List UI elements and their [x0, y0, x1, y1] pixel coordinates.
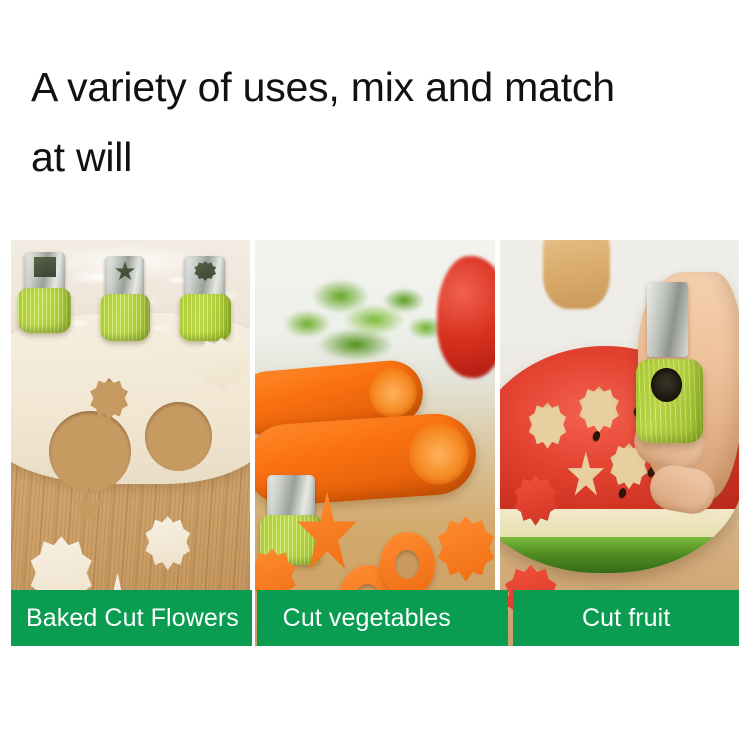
cutter-green-cap: [18, 288, 71, 333]
cutter-blade: [647, 282, 689, 357]
vegetable-cutter: [260, 475, 322, 564]
caption-bars: Baked Cut Flowers Cut vegetables Cut fru…: [11, 590, 739, 646]
wooden-jar: [543, 240, 610, 309]
cookie-cutter-star: [100, 256, 150, 341]
photo-cut-fruit: [500, 240, 739, 646]
caption-baked-cut-flowers: Baked Cut Flowers: [11, 590, 252, 646]
cutter-inner-shadow: [34, 257, 56, 277]
watermelon-green-rind: [500, 537, 739, 573]
product-feature-image: A variety of uses, mix and match at will: [0, 0, 750, 750]
cutter-inner-star: [114, 261, 135, 282]
caption-cut-fruit: Cut fruit: [513, 590, 739, 646]
cutter-inner-flower: [194, 261, 216, 282]
fruit-cutter: [636, 329, 703, 443]
panel-cut-vegetables: [255, 240, 494, 646]
panel-cut-fruit: [500, 240, 739, 646]
caption-cut-vegetables: Cut vegetables: [257, 590, 509, 646]
cookie-cutter-round: [18, 252, 71, 333]
dough-hole-round-1: [49, 411, 130, 492]
feature-panels: [11, 240, 739, 646]
red-pepper: [437, 256, 494, 378]
photo-cut-vegetables: [255, 240, 494, 646]
cutter-bore: [651, 368, 682, 402]
panel-baked-cut-flowers: [11, 240, 250, 646]
cutter-green-cap: [179, 294, 232, 342]
dough-hole-round-2: [145, 402, 212, 471]
page-title: A variety of uses, mix and match at will: [31, 52, 731, 192]
photo-baked-cut-flowers: [11, 240, 250, 646]
cookie-cutter-flower: [179, 256, 232, 341]
carrot-ring-2: [380, 532, 435, 597]
cutter-green-cap: [100, 294, 150, 342]
